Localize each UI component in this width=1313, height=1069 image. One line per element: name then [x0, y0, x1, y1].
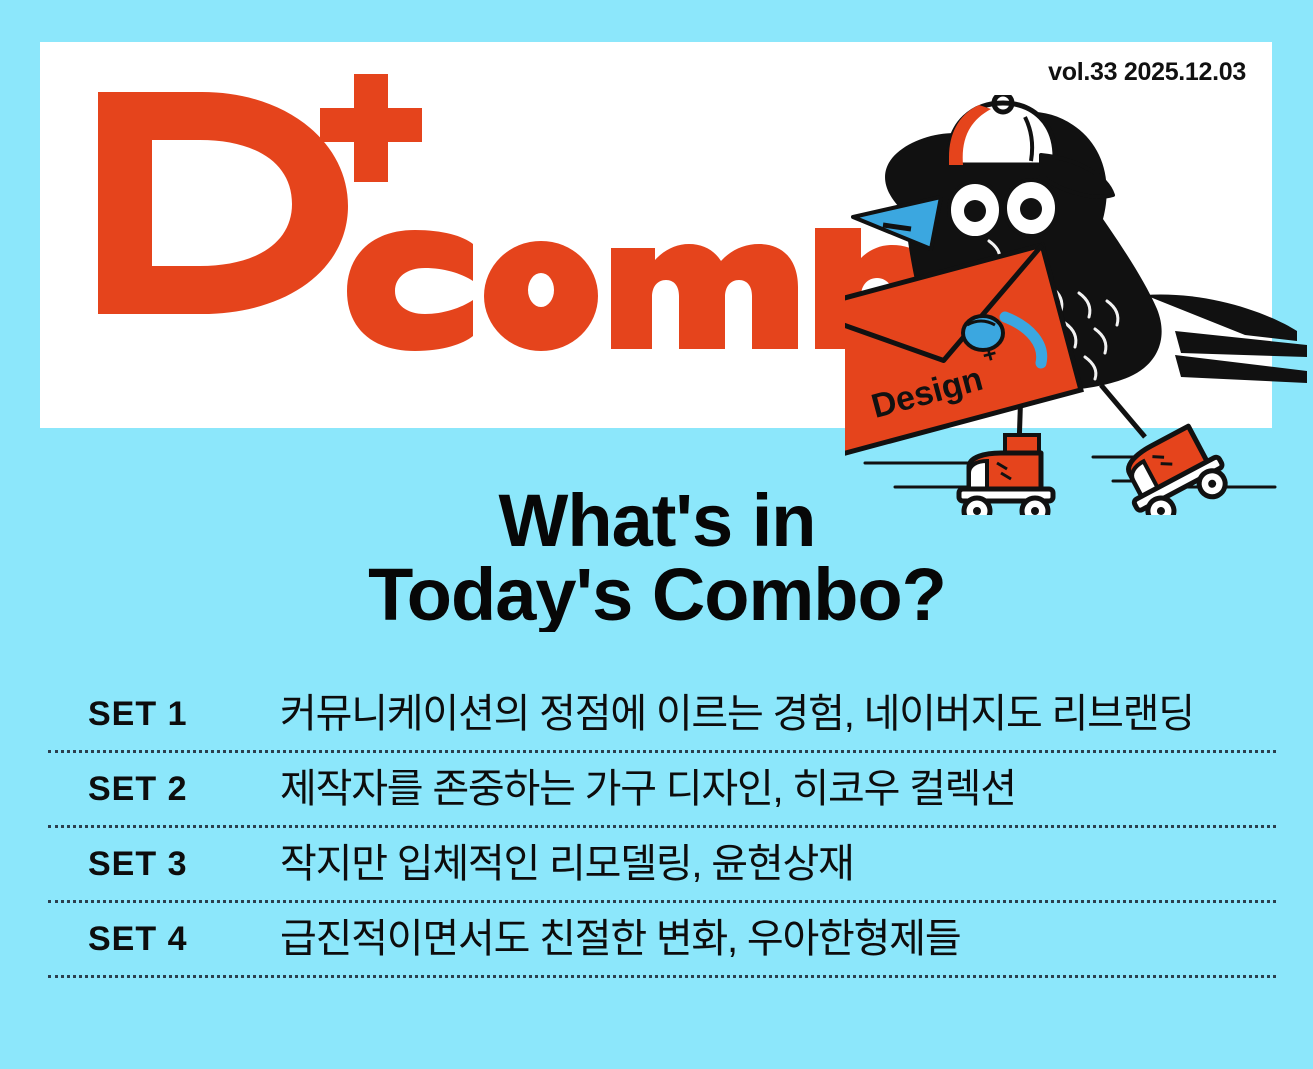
set-title: 제작자를 존중하는 가구 디자인, 히코우 컬렉션: [280, 769, 1276, 809]
issue-meta: vol.33 2025.12.03: [1048, 58, 1246, 87]
set-row[interactable]: SET 4 급진적이면서도 친절한 변화, 우아한형제들: [48, 903, 1276, 975]
row-divider: [48, 975, 1276, 978]
headline-line-2: Today's Combo?: [368, 553, 946, 632]
set-list: SET 1 커뮤니케이션의 정점에 이르는 경험, 네이버지도 리브랜딩 SET…: [48, 678, 1276, 978]
set-label: SET 1: [48, 694, 280, 734]
logo-plus-icon: [316, 72, 426, 192]
headline-block: What's in Today's Combo?: [0, 482, 1313, 632]
logo-wordmark-combo: [345, 228, 965, 353]
headline-line-1: What's in: [498, 482, 815, 562]
set-label-text: SET 4: [88, 920, 187, 958]
set-row[interactable]: SET 3 작지만 입체적인 리모델링, 윤현상재: [48, 828, 1276, 900]
set-label: SET 2: [48, 769, 280, 809]
brand-logo[interactable]: [90, 80, 990, 380]
set-label: SET 4: [48, 919, 280, 959]
set-title: 작지만 입체적인 리모델링, 윤현상재: [280, 844, 1276, 884]
set-row[interactable]: SET 2 제작자를 존중하는 가구 디자인, 히코우 컬렉션: [48, 753, 1276, 825]
set-title: 커뮤니케이션의 정점에 이르는 경험, 네이버지도 리브랜딩: [280, 694, 1276, 734]
set-label-text: SET 1: [88, 695, 187, 733]
hero-card: vol.33 2025.12.03: [40, 42, 1272, 428]
headline-graphic: What's in Today's Combo?: [267, 482, 1047, 632]
set-title: 급진적이면서도 친절한 변화, 우아한형제들: [280, 919, 1276, 959]
set-row[interactable]: SET 1 커뮤니케이션의 정점에 이르는 경험, 네이버지도 리브랜딩: [48, 678, 1276, 750]
set-label-text: SET 3: [88, 845, 187, 883]
set-label-text: SET 2: [88, 770, 187, 808]
set-label: SET 3: [48, 844, 280, 884]
